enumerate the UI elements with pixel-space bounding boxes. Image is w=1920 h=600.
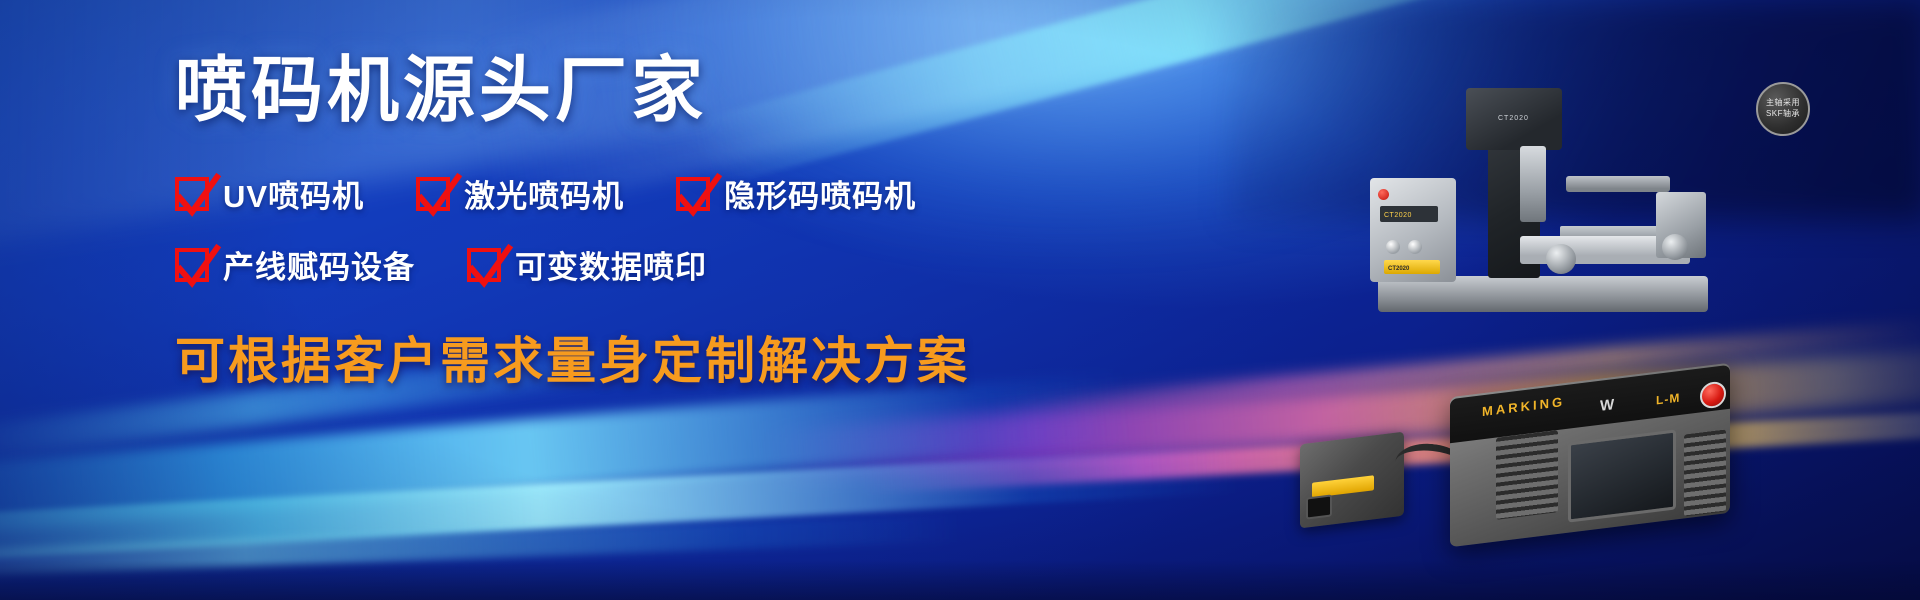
- cnc-knob-left: [1386, 240, 1400, 254]
- checked-box-icon: [416, 177, 450, 211]
- feature-label: 隐形码喷码机: [724, 171, 916, 216]
- checked-box-icon: [175, 248, 209, 282]
- skf-bearing-badge: 主轴采用 SKF轴承: [1756, 82, 1810, 136]
- laser-lens: [1306, 494, 1332, 519]
- feature-label: UV喷码机: [223, 171, 364, 216]
- cnc-yellow-label: CT2020: [1388, 266, 1409, 272]
- cnc-emergency-button: [1378, 189, 1389, 200]
- feature-item-laser: 激光喷码机: [416, 171, 624, 216]
- feature-label: 产线赋码设备: [223, 242, 415, 287]
- cnc-spindle: [1520, 146, 1546, 222]
- feature-item-production-line: 产线赋码设备: [175, 242, 415, 287]
- cnc-handwheel-front: [1546, 244, 1576, 274]
- cnc-handwheel-side: [1662, 234, 1688, 260]
- cnc-cross-arm: [1566, 176, 1670, 192]
- feature-item-variable-data: 可变数据喷印: [467, 242, 707, 287]
- cnc-panel-label: CT2020: [1384, 212, 1412, 219]
- badge-line-2: SKF轴承: [1766, 109, 1800, 120]
- background-ribbon-blue-3: [0, 514, 960, 580]
- laser-model-label: L-M: [1656, 391, 1680, 408]
- banner-subheadline: 可根据客户需求量身定制解决方案: [175, 321, 1275, 393]
- banner-headline: 喷码机源头厂家: [175, 55, 1275, 127]
- cnc-machine-image: CT2020 CT2020 CT2020: [1370, 58, 1740, 318]
- cnc-head-label: CT2020: [1498, 115, 1529, 122]
- checked-box-icon: [676, 177, 710, 211]
- laser-vent-left: [1496, 430, 1558, 520]
- banner-content: 喷码机源头厂家 UV喷码机: [175, 55, 1275, 393]
- background-ribbon-blue-1: [0, 372, 1129, 540]
- feature-row-2: 产线赋码设备 可变数据喷印: [175, 242, 1275, 287]
- feature-item-invisible-code: 隐形码喷码机: [676, 171, 916, 216]
- feature-item-uv: UV喷码机: [175, 171, 364, 216]
- cnc-knob-right: [1408, 240, 1422, 254]
- laser-touchscreen: [1568, 429, 1676, 522]
- background-ribbon-blue-2: [0, 447, 1239, 566]
- feature-list: UV喷码机 激光喷码机 隐形码喷码机: [175, 171, 1275, 287]
- checked-box-icon: [175, 177, 209, 211]
- feature-label: 激光喷码机: [464, 171, 624, 216]
- feature-row-1: UV喷码机 激光喷码机 隐形码喷码机: [175, 171, 1275, 216]
- laser-vent-right: [1684, 429, 1726, 516]
- promo-banner: 喷码机源头厂家 UV喷码机: [0, 0, 1920, 600]
- badge-line-1: 主轴采用: [1766, 98, 1800, 109]
- feature-label: 可变数据喷印: [515, 242, 707, 287]
- laser-marker-image: MARKING W L-M: [1300, 340, 1730, 530]
- laser-brand-mark: W: [1600, 396, 1614, 415]
- checked-box-icon: [467, 248, 501, 282]
